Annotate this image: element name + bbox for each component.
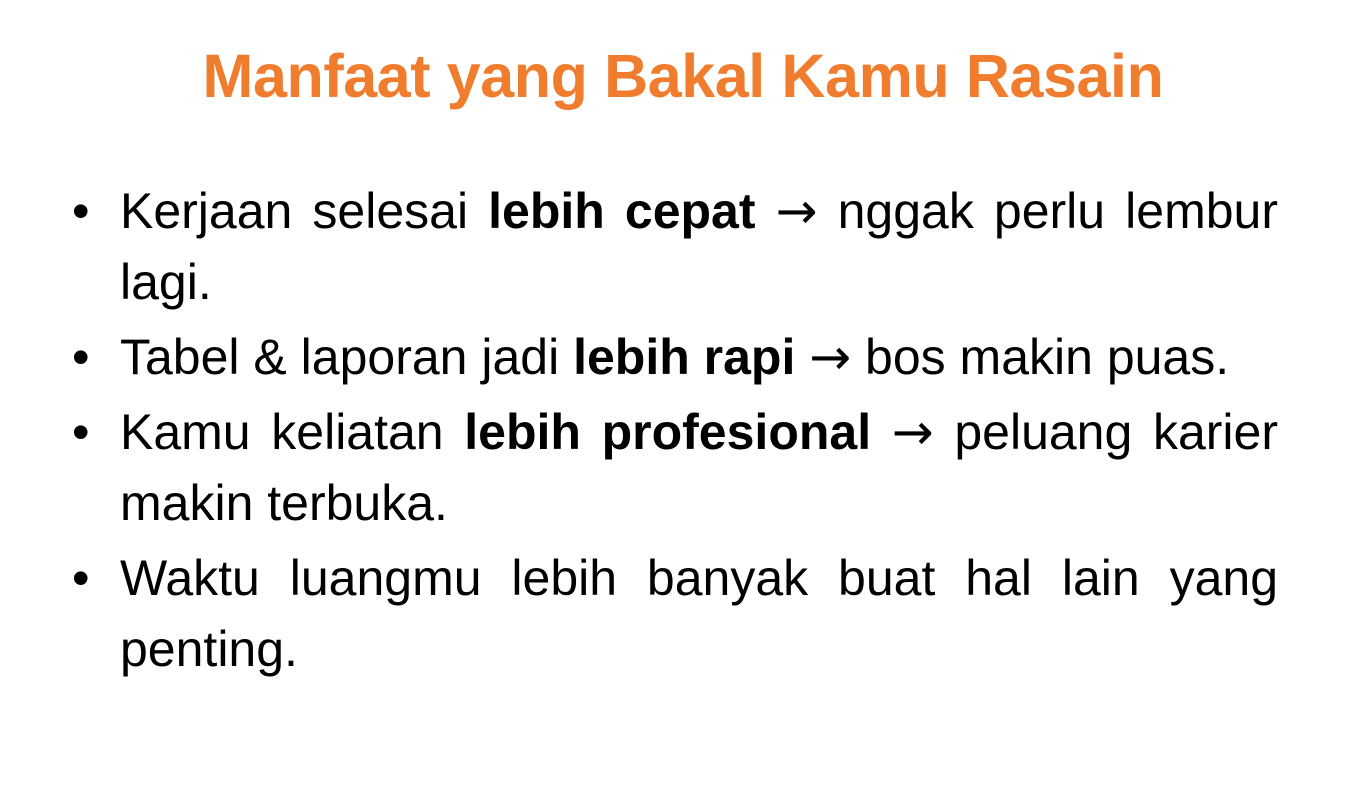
arrow-icon: → [892,403,934,461]
page-title: Manfaat yang Bakal Kamu Rasain [0,42,1366,110]
arrow-icon: → [809,328,851,386]
list-item-text: Kerjaan selesai lebih cepat → nggak perl… [120,176,1278,318]
list-item: • Tabel & laporan jadi lebih rapi → bos … [58,322,1278,393]
bullet-point-icon: • [72,176,98,247]
list-item: • Waktu luangmu lebih banyak buat hal la… [58,543,1278,685]
list-item-text: Tabel & laporan jadi lebih rapi → bos ma… [120,322,1278,393]
bullet-point-icon: • [72,397,98,468]
bullet-point-icon: • [72,322,98,393]
slide-canvas: Manfaat yang Bakal Kamu Rasain • Kerjaan… [0,0,1366,800]
list-item: • Kerjaan selesai lebih cepat → nggak pe… [58,176,1278,318]
list-item-text: Waktu luangmu lebih banyak buat hal lain… [120,543,1278,685]
benefits-bullet-list: • Kerjaan selesai lebih cepat → nggak pe… [58,176,1278,685]
list-item-text: Kamu keliatan lebih profesional → peluan… [120,397,1278,539]
list-item: • Kamu keliatan lebih profesional → pelu… [58,397,1278,539]
bullet-point-icon: • [72,543,98,614]
arrow-icon: → [776,182,818,240]
